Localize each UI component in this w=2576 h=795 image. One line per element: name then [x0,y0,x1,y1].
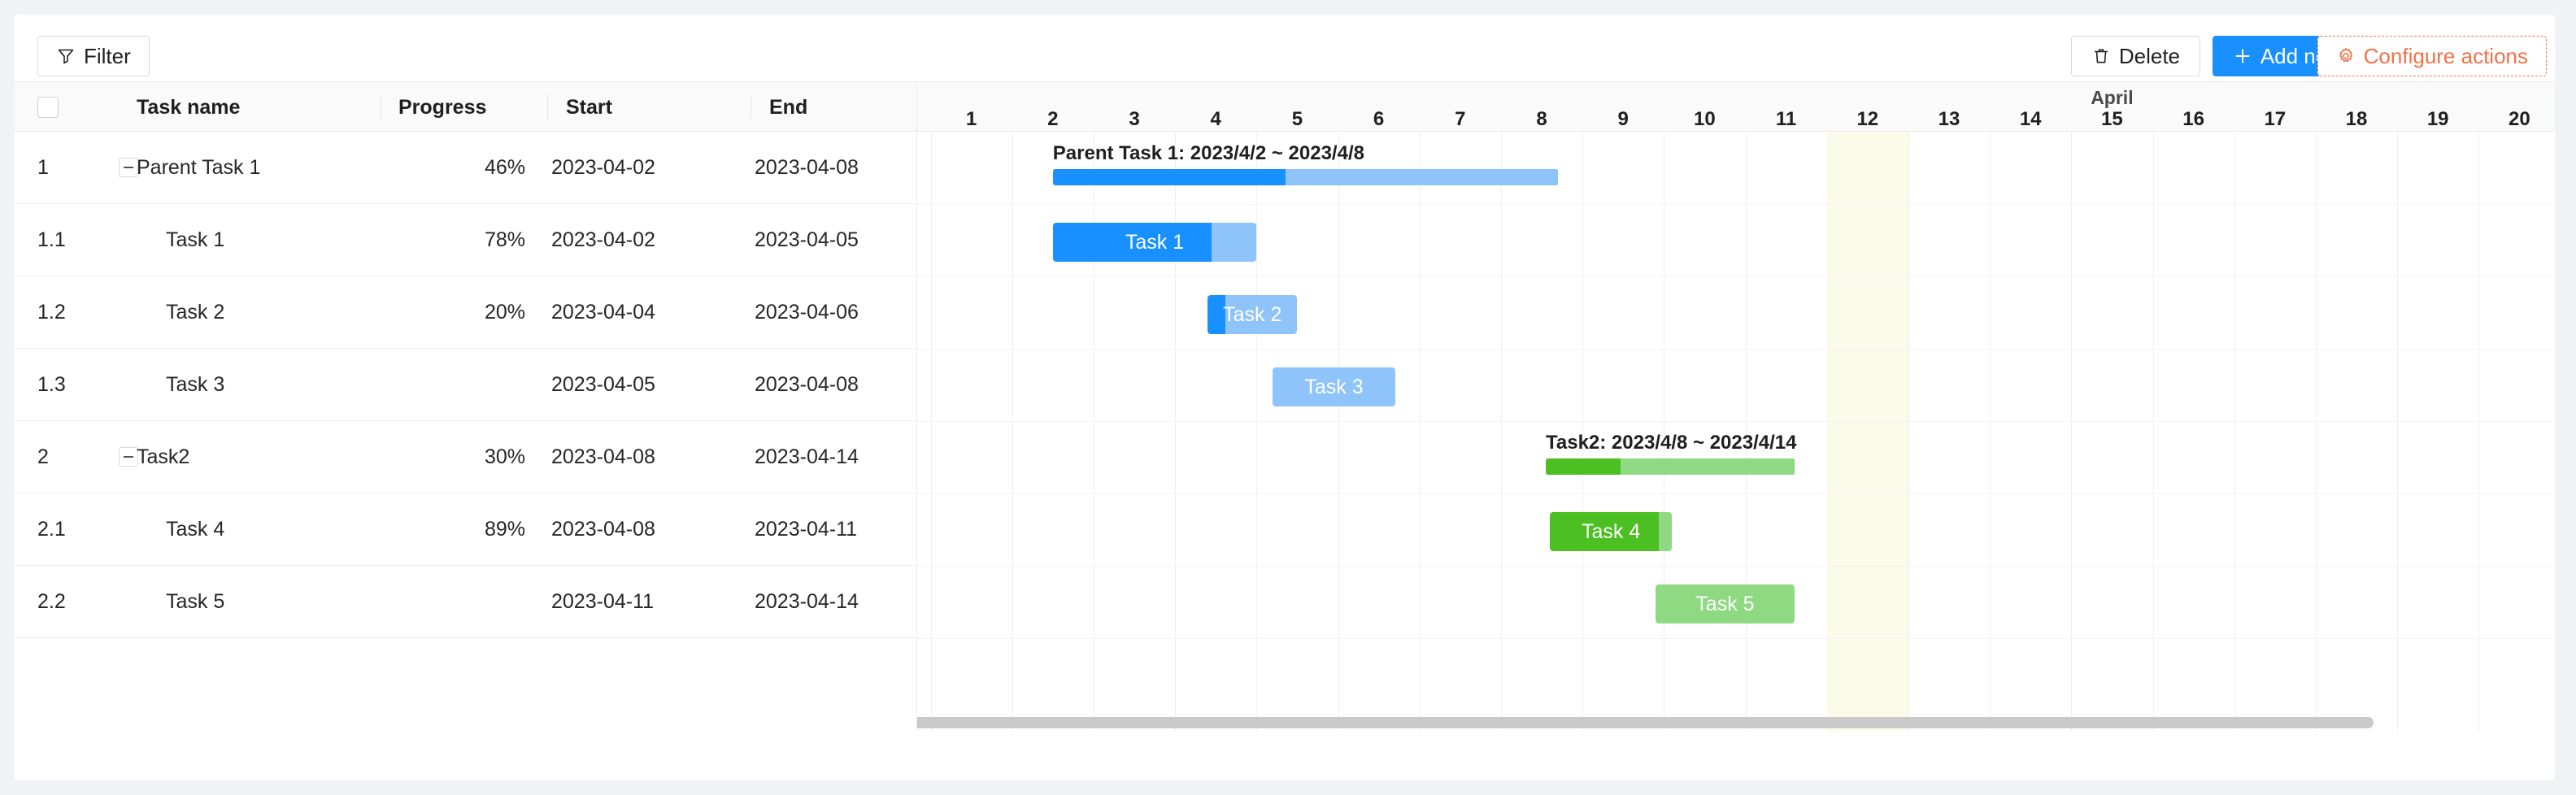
timeline-row-divider [917,204,2555,205]
cell-progress [381,566,535,638]
collapse-toggle-icon[interactable] [119,158,138,177]
cell-id: 1.3 [37,349,86,421]
gantt-bar-label: Task 3 [1273,367,1395,406]
gantt-bar[interactable] [1053,169,1558,185]
gantt-group-label: Parent Task 1: 2023/4/2 ~ 2023/4/8 [1053,142,1364,165]
timeline-row-divider [917,276,2555,277]
timeline-day-label: 19 [2427,108,2449,131]
timeline-gridline [931,132,932,732]
configure-actions-label: Configure actions [2364,46,2528,67]
today-highlight-column [1827,132,1908,732]
timeline-canvas: Parent Task 1: 2023/4/2 ~ 2023/4/8Task 1… [917,132,2555,732]
timeline-day-label: 3 [1129,108,1139,131]
gantt-bar-label: Task 5 [1656,584,1794,623]
gantt-bar[interactable]: Task 2 [1207,295,1297,334]
table-row[interactable]: 1Parent Task 146%2023-04-022023-04-08 [15,132,916,204]
filter-icon [56,46,76,66]
table-row[interactable]: 2Task230%2023-04-082023-04-14 [15,421,916,493]
cell-id: 2.1 [37,493,86,566]
cell-name: Task 4 [166,493,394,566]
timeline-gridline [2234,132,2235,732]
cell-start: 2023-04-05 [551,349,746,421]
gantt-bar-progress-fill [1053,169,1286,185]
timeline-gridline [1338,132,1339,732]
task-table: Task name Progress Start End 1Parent Tas… [15,81,917,732]
cell-progress: 89% [381,493,535,566]
cell-id: 1.1 [37,204,86,276]
task-table-rows: 1Parent Task 146%2023-04-022023-04-081.1… [15,132,916,638]
cell-name: Task 5 [166,566,394,638]
header-start[interactable]: Start [566,82,612,132]
filter-button-label: Filter [84,46,131,67]
table-row[interactable]: 1.1Task 178%2023-04-022023-04-05 [15,204,916,276]
timeline-day-label: 7 [1455,108,1465,131]
timeline-gridline [2316,132,2317,732]
collapse-toggle-icon[interactable] [119,447,138,467]
timeline-day-label: 5 [1292,108,1303,131]
cell-end: 2023-04-08 [755,132,917,204]
cell-start: 2023-04-02 [551,132,746,204]
horizontal-scrollbar[interactable] [917,717,2555,728]
cell-progress: 20% [381,276,535,349]
cell-id: 1.2 [37,276,86,349]
select-all-cell [37,82,59,132]
timeline-day-label: 16 [2182,108,2204,131]
cell-name: Task2 [137,421,364,493]
timeline-day-label: 10 [1694,108,1716,131]
timeline-gridline [2397,132,2398,732]
cell-start: 2023-04-04 [551,276,746,349]
gantt-bar-progress-fill [1053,223,1212,262]
cell-end: 2023-04-05 [755,204,917,276]
filter-button[interactable]: Filter [37,36,150,76]
cell-id: 2 [37,421,86,493]
gantt-bar-progress-fill [1546,458,1621,475]
cell-end: 2023-04-11 [755,493,917,566]
timeline-day-label: 14 [2020,108,2042,131]
gantt-card: Filter Delete Add new [15,15,2555,780]
timeline-day-label: 9 [1618,108,1629,131]
timeline-row-divider [917,638,2555,639]
task-table-header: Task name Progress Start End [15,81,916,132]
cell-progress [381,349,535,421]
timeline-day-label: 13 [1939,108,1960,131]
timeline-gridline [2071,132,2072,732]
timeline-gridline [2153,132,2154,732]
timeline-day-label: 20 [2509,108,2530,131]
timeline-day-label: 1 [966,108,977,131]
delete-button-label: Delete [2119,46,2180,67]
timeline-gridline [1501,132,1502,732]
cell-progress: 78% [381,204,535,276]
toolbar: Filter Delete Add new [15,15,2555,81]
cell-end: 2023-04-08 [755,349,917,421]
header-task-name[interactable]: Task name [137,82,240,132]
gantt-group-label: Task2: 2023/4/8 ~ 2023/4/14 [1546,432,1796,454]
gantt-body: Task name Progress Start End 1Parent Tas… [15,81,2555,732]
cell-end: 2023-04-14 [755,566,917,638]
timeline-header: April1234567891011121314151617181920 [917,81,2555,132]
gantt-bar-progress-fill [1550,512,1659,551]
timeline-gridline [1990,132,1991,732]
page-background: Filter Delete Add new [0,0,2576,795]
timeline-row-divider [917,421,2555,422]
cell-name: Task 2 [166,276,394,349]
gantt-bar[interactable]: Task 1 [1053,223,1257,262]
timeline-row-divider [917,493,2555,494]
cell-start: 2023-04-08 [551,493,746,566]
timeline-gridline [1908,132,1909,732]
timeline-day-label: 15 [2101,108,2123,131]
cell-progress: 30% [381,421,535,493]
timeline-row-divider [917,566,2555,567]
timeline-gridline [1420,132,1421,732]
timeline-day-label: 11 [1776,108,1796,131]
timeline-day-label: 17 [2264,108,2286,131]
timeline-gridline [1012,132,1013,732]
cell-name: Parent Task 1 [137,132,364,204]
timeline-row-divider [917,349,2555,350]
gantt-bar[interactable]: Task 4 [1550,512,1672,551]
gantt-bar[interactable]: Task 3 [1273,367,1395,406]
table-row[interactable]: 2.2Task 52023-04-112023-04-14 [15,566,916,638]
timeline-day-label: 2 [1047,108,1058,131]
cell-end: 2023-04-06 [755,276,917,349]
cell-start: 2023-04-02 [551,204,746,276]
timeline-gridline [1175,132,1176,732]
timeline-day-label: 12 [1856,108,1878,131]
gantt-bar-progress-fill [1207,295,1225,334]
cell-id: 2.2 [37,566,86,638]
header-divider [381,95,381,119]
gantt-timeline: April1234567891011121314151617181920 Par… [917,81,2555,732]
timeline-gridline [1256,132,1257,732]
table-row[interactable]: 1.2Task 220%2023-04-042023-04-06 [15,276,916,349]
table-row[interactable]: 1.3Task 32023-04-052023-04-08 [15,349,916,421]
plus-icon [2233,46,2252,66]
timeline-day-label: 8 [1536,108,1547,131]
timeline-gridline [2478,132,2479,732]
header-divider [547,95,548,119]
timeline-month-label: April [2091,87,2133,109]
timeline-day-label: 18 [2346,108,2368,131]
gear-icon [2336,46,2356,66]
header-divider [751,95,751,119]
cell-start: 2023-04-11 [551,566,746,638]
gantt-bar[interactable]: Task 5 [1656,584,1794,623]
delete-button[interactable]: Delete [2071,36,2200,76]
timeline-day-label: 4 [1211,108,1221,131]
table-row[interactable]: 2.1Task 489%2023-04-082023-04-11 [15,493,916,566]
gantt-bar[interactable] [1546,458,1795,475]
cell-name: Task 3 [166,349,394,421]
cell-start: 2023-04-08 [551,421,746,493]
timeline-gridline [1094,132,1094,732]
scrollbar-thumb[interactable] [917,717,2374,728]
select-all-checkbox[interactable] [37,97,59,118]
configure-actions-button[interactable]: Configure actions [2317,36,2547,76]
cell-id: 1 [37,132,86,204]
timeline-day-label: 6 [1373,108,1384,131]
header-progress[interactable]: Progress [398,82,486,132]
header-end[interactable]: End [769,82,807,132]
cell-name: Task 1 [166,204,394,276]
trash-icon [2091,46,2111,66]
cell-progress: 46% [381,132,535,204]
cell-end: 2023-04-14 [755,421,917,493]
